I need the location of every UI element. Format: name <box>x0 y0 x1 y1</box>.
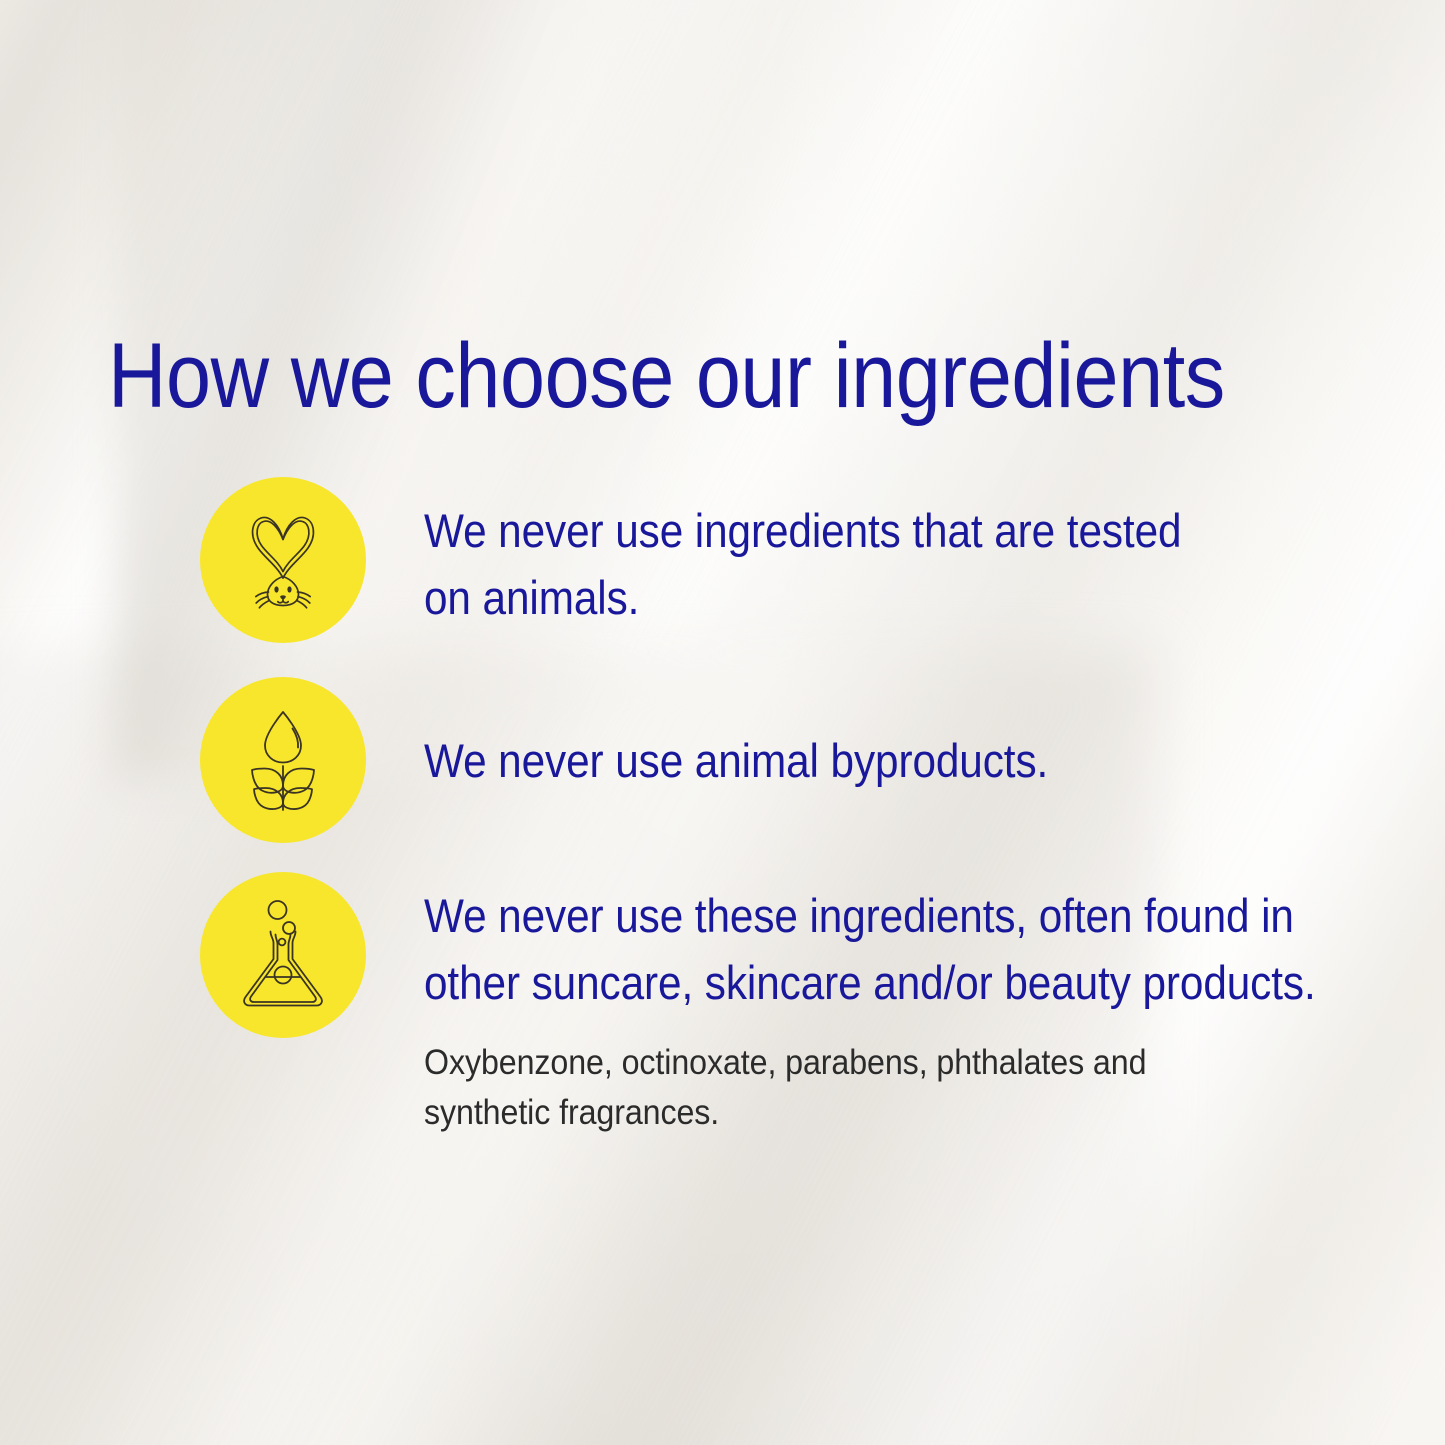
claim-note: Oxybenzone, octinoxate, parabens, phthal… <box>424 1038 1224 1138</box>
claim-text: We never use animal byproducts. <box>424 727 1048 794</box>
claim-item-no-animal-byproducts: We never use animal byproducts. <box>200 677 1118 843</box>
page-title: How we choose our ingredients <box>108 330 1225 422</box>
claim-body: We never use animal byproducts. <box>424 677 1118 794</box>
erlenmeyer-flask-icon <box>200 872 366 1038</box>
claim-item-no-bad-ingredients: We never use these ingredients, often fo… <box>200 872 1424 1138</box>
claim-item-cruelty-free: We never use ingredients that are tested… <box>200 477 1284 643</box>
claim-body: We never use ingredients that are tested… <box>424 477 1284 631</box>
droplet-plant-icon <box>200 677 366 843</box>
content-layer: How we choose our ingredients <box>0 0 1445 1445</box>
ingredient-claims-card: How we choose our ingredients <box>0 0 1445 1445</box>
claim-text: We never use these ingredients, often fo… <box>424 882 1324 1016</box>
claim-body: We never use these ingredients, often fo… <box>424 872 1424 1138</box>
bunny-heart-ears-icon <box>200 477 366 643</box>
claim-text: We never use ingredients that are tested… <box>424 497 1198 631</box>
